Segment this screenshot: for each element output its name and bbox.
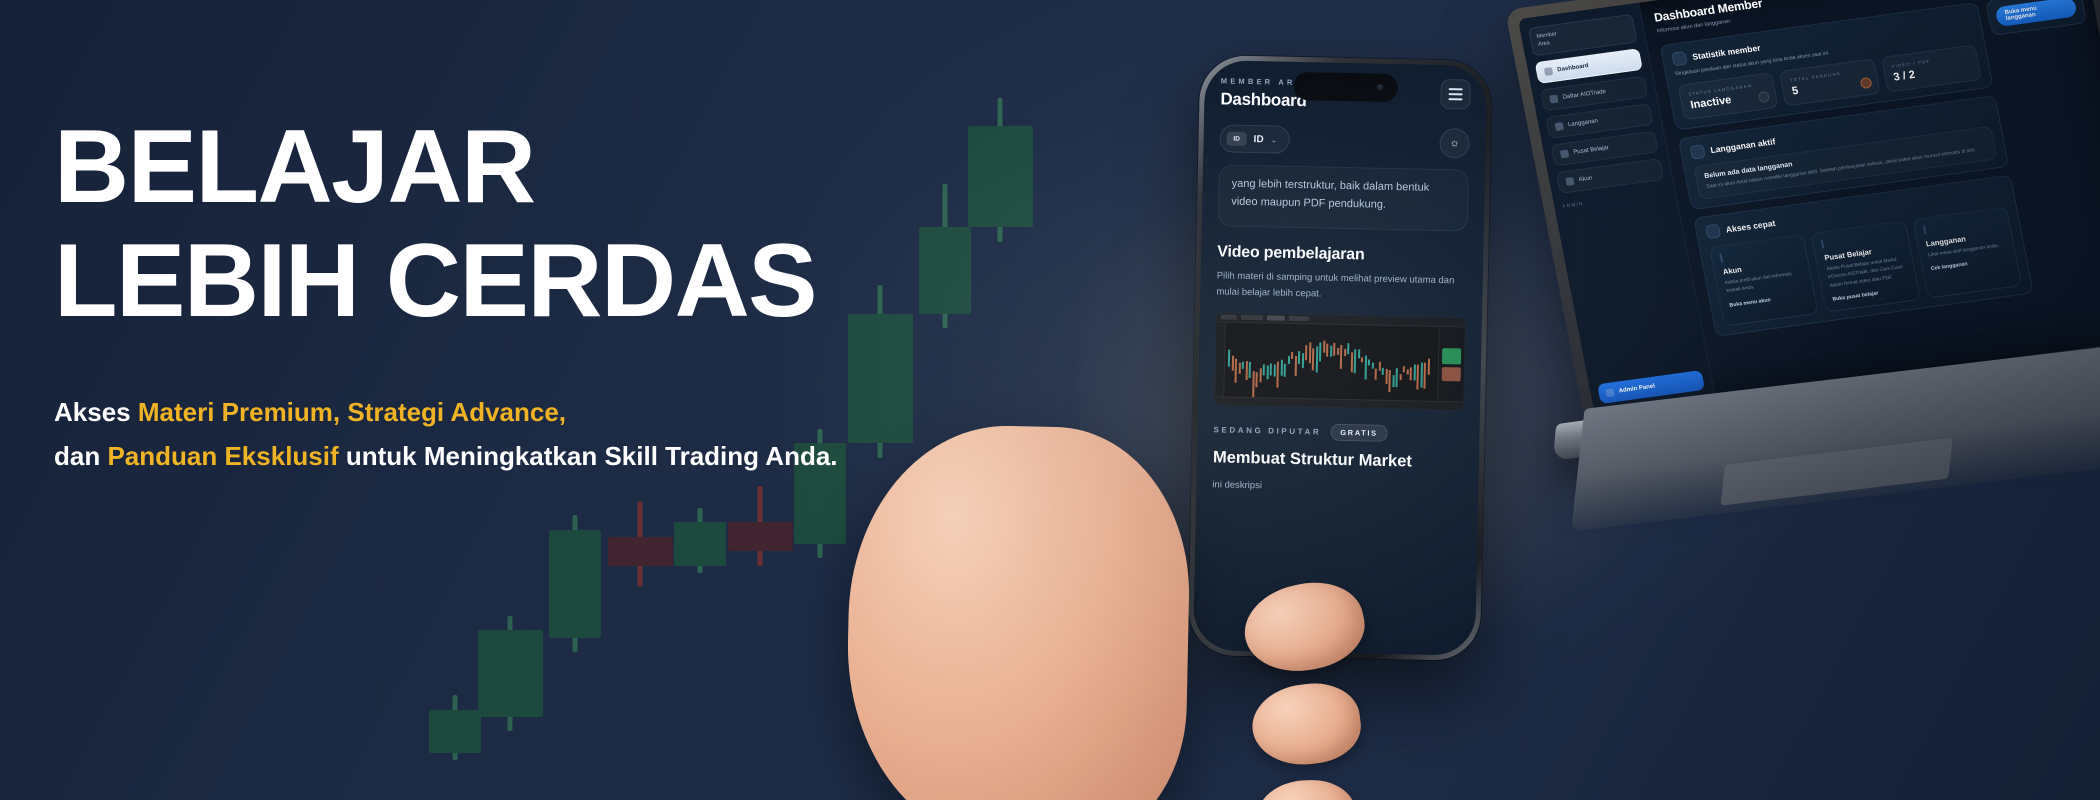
now-playing-label: SEDANG DIPUTAR	[1213, 425, 1321, 436]
quick-card-pusat-belajar[interactable]: Pusat Belajar Akses Pusat Belajar untuk …	[1811, 221, 1921, 313]
subline-1: Akses Materi Premium, Strategi Advance,	[54, 390, 1014, 435]
chart-candle	[1228, 349, 1230, 366]
flag-icon: ID	[1226, 132, 1246, 146]
laptop-mockup: Member Area Dashboard Daftar AIOTrade	[1505, 0, 2100, 560]
hamburger-icon[interactable]	[1440, 79, 1471, 110]
chart-candle	[1252, 371, 1255, 397]
chart-candle	[1413, 364, 1415, 381]
toolbar-chip	[1289, 316, 1309, 321]
sun-icon[interactable]: ☼	[1439, 128, 1470, 159]
chart-candle	[1410, 367, 1412, 380]
shield-icon	[1605, 388, 1614, 397]
subline-2-plain-a: dan	[54, 441, 107, 471]
chevron-down-icon: ⌄	[1271, 135, 1278, 144]
langganan-cta-card: Buka menu langganan	[1985, 0, 2087, 36]
chart-candle	[1361, 357, 1363, 362]
laptop-main: Dashboard Member Informasi akun dan lang…	[1639, 0, 2100, 398]
chart-candle	[1395, 368, 1397, 387]
chart-candle	[1392, 375, 1394, 387]
chart-candle	[1347, 343, 1349, 354]
chart-candle	[1371, 362, 1373, 368]
chart-candle	[1294, 356, 1296, 376]
lesson-meta: SEDANG DIPUTAR GRATIS	[1213, 421, 1463, 443]
stat-status-langganan: STATUS LANGGANAN Inactive	[1677, 72, 1778, 120]
list-icon	[1549, 94, 1558, 103]
phone-toolbar: ID ID ⌄ ☼	[1219, 123, 1470, 158]
index-finger	[1248, 678, 1365, 770]
chart-candle	[1423, 362, 1426, 388]
buka-menu-langganan-button[interactable]: Buka menu langganan	[1994, 0, 2077, 27]
card-icon	[1923, 226, 1927, 235]
chart-candle	[1337, 348, 1339, 355]
chart-candle	[1368, 359, 1370, 365]
status-badge: GRATIS	[1330, 423, 1388, 441]
phone-mockup: MEMBER ARE Dashboard ID ID ⌄ ☼	[1186, 55, 1501, 761]
chart-candle	[1382, 368, 1384, 375]
sell-button[interactable]	[1442, 367, 1461, 381]
buy-button[interactable]	[1442, 348, 1461, 364]
chart-candle	[1388, 370, 1390, 392]
chart-candle	[1298, 351, 1300, 363]
lesson-title: Membuat Struktur Market	[1213, 447, 1463, 473]
chart-icon	[1671, 50, 1688, 66]
chart-candle	[1350, 352, 1352, 373]
chart-candle	[1399, 374, 1401, 381]
stat-video-pdf: VIDEO / PDF 3 / 2	[1881, 44, 1982, 92]
chart-candle	[1427, 358, 1429, 374]
chart-candle	[1315, 347, 1318, 372]
quick-card-akun[interactable]: Akun Kelola profil akun dan informasi ko…	[1709, 234, 1819, 326]
chart-candle	[1291, 352, 1293, 359]
chart-candle	[1305, 345, 1307, 360]
sidebar-item-label: Pusat Belajar	[1573, 145, 1610, 156]
camera-lens-icon	[1377, 84, 1385, 92]
chart-candle	[1358, 350, 1360, 359]
section-description: Pilih materi di samping untuk melihat pr…	[1216, 268, 1467, 306]
chart-candle	[1375, 368, 1377, 380]
phone-ui: MEMBER ARE Dashboard ID ID ⌄ ☼	[1193, 60, 1487, 656]
chart-candle	[1287, 356, 1289, 364]
headline-line-2: LEBIH CERDAS	[54, 232, 1014, 332]
sidebar-item-label: Langganan	[1567, 118, 1598, 128]
chart-candle	[1406, 369, 1408, 375]
chart-candle	[1280, 360, 1282, 375]
chart-candle	[1330, 346, 1332, 357]
chart-candle	[1255, 372, 1257, 387]
chart-plot-area	[1224, 322, 1439, 400]
page-title: BELAJAR LEBIH CERDAS	[54, 118, 1014, 332]
chart-order-panel	[1437, 327, 1465, 402]
lesson-description: ini deskripsi	[1212, 479, 1462, 495]
laptop-col-left: Statistik member Ringkasan panduan dan s…	[1659, 1, 2033, 336]
laptop-trackpad	[1721, 438, 1953, 506]
chart-candle	[1385, 369, 1387, 385]
chart-candle	[1242, 362, 1244, 369]
chart-candle	[1263, 365, 1265, 376]
chart-candle	[1340, 345, 1343, 369]
chart-candle	[1344, 349, 1346, 357]
bolt-icon	[1705, 224, 1722, 240]
subline-1-plain: Akses	[54, 397, 138, 427]
phone-screen: MEMBER ARE Dashboard ID ID ⌄ ☼	[1193, 60, 1487, 656]
hero-banner: BELAJAR LEBIH CERDAS Akses Materi Premiu…	[0, 0, 2100, 800]
sidebar-item-label: Dashboard	[1557, 63, 1589, 73]
subline-2: dan Panduan Eksklusif untuk Meningkatkan…	[54, 434, 1014, 479]
language-selector[interactable]: ID ID ⌄	[1219, 124, 1289, 153]
headline-line-1: BELAJAR	[54, 109, 535, 225]
palm	[844, 423, 1193, 800]
chart-candle	[1259, 368, 1261, 382]
dynamic-island	[1293, 72, 1398, 102]
language-label: ID	[1253, 134, 1263, 145]
chart-candle	[1238, 363, 1240, 374]
card-title: Akses cepat	[1725, 218, 1776, 235]
phone-frame: MEMBER ARE Dashboard ID ID ⌄ ☼	[1188, 55, 1493, 661]
card-title: Langganan aktif	[1710, 136, 1777, 155]
chart-candle	[1270, 363, 1272, 375]
chart-candle	[1403, 366, 1405, 373]
chart-candle	[1323, 340, 1325, 352]
chart-candle	[1249, 362, 1251, 378]
chart-candle	[1245, 361, 1247, 381]
laptop-screen: Member Area Dashboard Daftar AIOTrade	[1518, 0, 2100, 415]
status-badge	[1758, 91, 1771, 103]
chart-candle	[1319, 343, 1321, 362]
chart-candle	[1326, 343, 1328, 357]
grid-icon	[1544, 67, 1553, 76]
subline-2-plain-b: untuk Meningkatkan Skill Trading Anda.	[339, 441, 838, 471]
subline-2-highlight: Panduan Eksklusif	[107, 441, 338, 471]
chart-candle	[1301, 353, 1303, 368]
chart-candle	[1416, 365, 1419, 390]
chart-candle	[1312, 348, 1314, 370]
intro-note: yang lebih terstruktur, baik dalam bentu…	[1218, 164, 1469, 231]
card-icon	[1689, 144, 1706, 160]
book-icon	[1821, 240, 1825, 249]
chart-candle	[1308, 342, 1310, 363]
quick-card-desc: Akses Pusat Belajar untuk MaAd, eCourse …	[1826, 256, 1907, 290]
middle-finger	[1255, 778, 1359, 800]
chart-candle	[1378, 362, 1380, 371]
section-title: Video pembelajaran	[1217, 243, 1467, 266]
hero-subcopy: Akses Materi Premium, Strategi Advance, …	[54, 390, 1014, 479]
intro-note-text: yang lebih terstruktur, baik dalam bentu…	[1231, 176, 1456, 216]
chart-candle	[1284, 363, 1286, 377]
chart-candle	[1364, 356, 1366, 380]
sidebar-item-label: Daftar AIOTrade	[1562, 88, 1606, 100]
chart-candle	[1273, 364, 1275, 377]
toolbar-chip	[1221, 315, 1237, 320]
toolbar-chip	[1241, 315, 1263, 320]
book-icon	[1560, 149, 1569, 158]
chart-candle	[1266, 365, 1268, 380]
admin-panel-label: Admin Panel	[1618, 384, 1655, 395]
card-icon	[1554, 122, 1563, 131]
laptop-content-grid: Statistik member Ringkasan panduan dan s…	[1659, 0, 2100, 337]
hero-copy: BELAJAR LEBIH CERDAS Akses Materi Premiu…	[54, 118, 1014, 479]
subline-1-highlight: Materi Premium, Strategi Advance,	[138, 397, 566, 427]
stat-total-panduan: TOTAL PANDUAN 5	[1779, 58, 1880, 106]
quick-card-langganan[interactable]: Langganan Lihat masa aktif langganan and…	[1912, 207, 2022, 299]
trading-chart-thumbnail[interactable]	[1214, 312, 1466, 410]
toolbar-chip	[1267, 316, 1285, 321]
chart-candle	[1333, 343, 1335, 356]
user-icon	[1720, 254, 1724, 263]
chart-candle	[1234, 359, 1237, 383]
sidebar-item-label: Akun	[1578, 175, 1593, 183]
chart-candle	[1354, 349, 1357, 373]
user-icon	[1565, 177, 1574, 186]
chart-candle	[1420, 363, 1423, 388]
chart-candle	[1276, 362, 1279, 387]
sidebar-section-label: ADMIN	[1562, 189, 1667, 208]
laptop-ui: Member Area Dashboard Daftar AIOTrade	[1518, 0, 2100, 415]
chart-candle	[1231, 356, 1233, 371]
